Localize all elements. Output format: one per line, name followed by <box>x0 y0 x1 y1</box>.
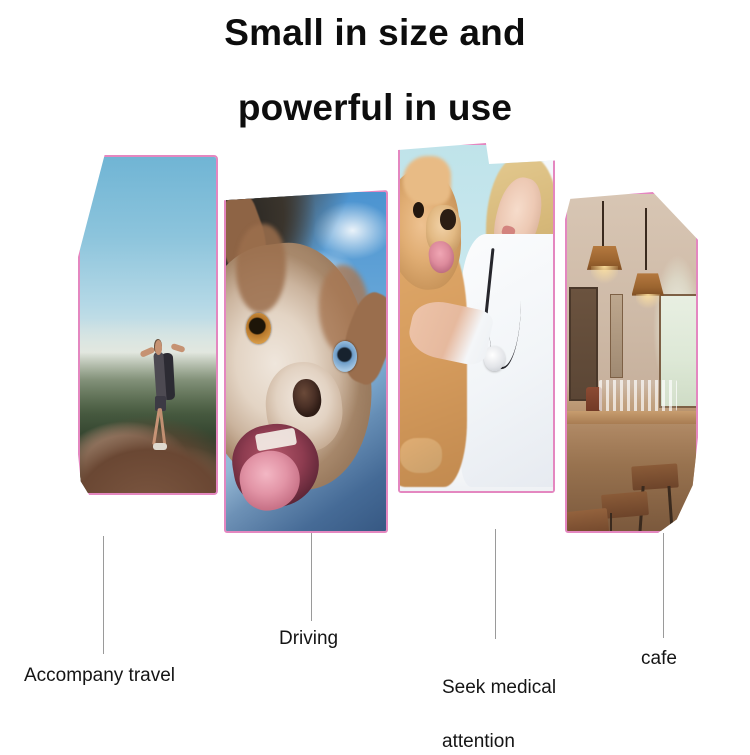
photo-panel-accompany-travel[interactable] <box>78 155 218 495</box>
cafe-stool-2-leg <box>610 513 613 533</box>
title-line-2: powerful in use <box>0 89 750 126</box>
pendant-lamp-right-cord <box>645 208 647 270</box>
cafe-mirror <box>569 287 597 401</box>
pendant-lamp-right-glow <box>636 294 660 309</box>
photo-panel-driving[interactable] <box>224 190 388 533</box>
page-title: Small in size and powerful in use <box>0 14 750 126</box>
cafe-stool-2 <box>601 491 649 519</box>
cafe-stool-1-leg-b <box>668 486 674 531</box>
hiker-right-arm <box>171 343 186 353</box>
hiker-shoes <box>153 443 166 450</box>
retriever-nose <box>440 209 456 230</box>
pendant-lamp-right-shade <box>632 273 664 295</box>
retriever-head-fur <box>403 156 451 205</box>
cafe-bar-counter <box>565 411 698 425</box>
photo-cafe-interior <box>565 192 698 533</box>
cafe-wall-art <box>610 294 623 378</box>
stethoscope-bell <box>484 346 505 371</box>
label-cafe: cafe <box>641 645 677 672</box>
label-seek-medical-attention: Seek medical attention <box>442 647 556 755</box>
photo-hiker-on-cliff <box>78 155 218 495</box>
pendant-lamp-left-cord <box>602 201 604 249</box>
label-accompany-travel: Accompany travel <box>24 662 175 689</box>
photo-dog-in-car-window <box>224 190 388 533</box>
label-driving: Driving <box>279 625 338 652</box>
hiker-figure <box>139 332 190 455</box>
retriever-paw <box>400 438 441 473</box>
cafe-glassware <box>599 380 677 411</box>
cafe-stool-1 <box>631 464 678 491</box>
pendant-lamp-left-glow <box>591 266 618 283</box>
hiker-leg-right <box>159 408 167 445</box>
photo-panel-seek-medical-attention[interactable] <box>398 143 555 493</box>
label-seek-medical-line-2: attention <box>442 731 515 752</box>
retriever-eye <box>413 202 424 218</box>
photo-vet-with-dog <box>398 143 555 493</box>
dog-blue-eye <box>333 341 358 372</box>
label-seek-medical-line-1: Seek medical <box>442 677 556 698</box>
title-line-1: Small in size and <box>0 14 750 51</box>
cafe-stool-3 <box>566 508 609 533</box>
photo-panel-cafe[interactable] <box>565 192 698 533</box>
